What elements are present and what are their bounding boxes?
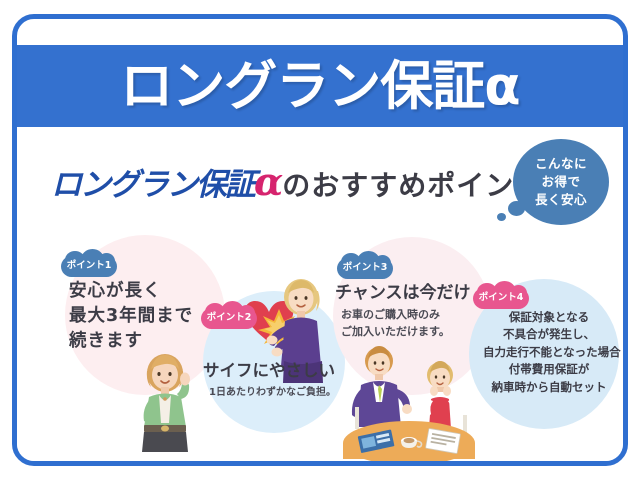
point-4-badge-label: ポイント4 [473,289,529,303]
bubble-line-1: こんなに [535,155,587,173]
point-3-heading-line-1: チャンスは今だけ [335,281,471,305]
point-1-heading-line-1: 安心が長く [69,279,193,304]
two-people-at-table-illustration [335,337,483,461]
speech-bubble-body: こんなに お得で 長く安心 [513,139,609,225]
point-3-subtext-line-1: お車のご購入時のみ [341,307,450,324]
subtitle-tail: のおすすめポイント [282,169,543,202]
point-1-heading-line-2: 最大3年間まで [69,304,193,329]
speech-bubble: こんなに お得で 長く安心 [513,139,609,225]
poster-frame: ロングラン保証α ロングラン保証αのおすすめポイント こんなに お得で 長く安心 [12,14,628,466]
woman-raising-hand-illustration [125,349,205,461]
point-3-badge-label: ポイント3 [337,259,393,273]
point-2-subtext-line-1: 1日あたりわずかなご負担。 [209,385,336,400]
speech-bubble-tail-small [497,213,506,221]
point-3-subtext: お車のご購入時のみ ご加入いただけます。 [341,307,450,340]
point-2-badge: ポイント2 [201,303,257,329]
page-title: ロングラン保証α [120,60,519,113]
header-banner: ロングラン保証α [17,45,623,127]
point-4-badge: ポイント4 [473,283,529,309]
advertisement-image: ロングラン保証α ロングラン保証αのおすすめポイント こんなに お得で 長く安心 [0,0,640,480]
point-4-heading-line-5: 納車時から自動セット [483,379,615,396]
subtitle: ロングラン保証αのおすすめポイント [51,163,543,201]
bubble-line-3: 長く安心 [535,191,587,209]
point-3-badge: ポイント3 [337,253,393,279]
point-1-badge: ポイント1 [61,251,117,277]
point-1-badge-label: ポイント1 [61,257,117,271]
subtitle-brand: ロングラン保証 [51,167,254,203]
point-1-heading: 安心が長く 最大3年間まで 続きます [69,279,193,354]
point-1-heading-line-3: 続きます [69,329,193,354]
point-4-heading-line-4: 付帯費用保証が [483,361,615,378]
point-2-subtext: 1日あたりわずかなご負担。 [209,385,336,400]
point-4-heading-line-3: 自力走行不能となった場合 [483,344,615,361]
point-4-heading: 保証対象となる 不具合が発生し、 自力走行不能となった場合 付帯費用保証が 納車… [483,309,615,396]
bubble-line-2: お得で [541,173,580,191]
content-area: ロングラン保証αのおすすめポイント こんなに お得で 長く安心 ポイント1 [17,127,623,461]
point-2-heading: サイフにやさしい [203,359,335,382]
point-4-heading-line-2: 不具合が発生し、 [483,326,615,343]
point-3-heading: チャンスは今だけ [335,281,471,305]
point-2-heading-line-1: サイフにやさしい [203,359,335,382]
point-2-badge-label: ポイント2 [201,309,257,323]
point-4-heading-line-1: 保証対象となる [483,309,615,326]
subtitle-alpha: α [254,159,282,204]
point-3-subtext-line-2: ご加入いただけます。 [341,324,450,341]
